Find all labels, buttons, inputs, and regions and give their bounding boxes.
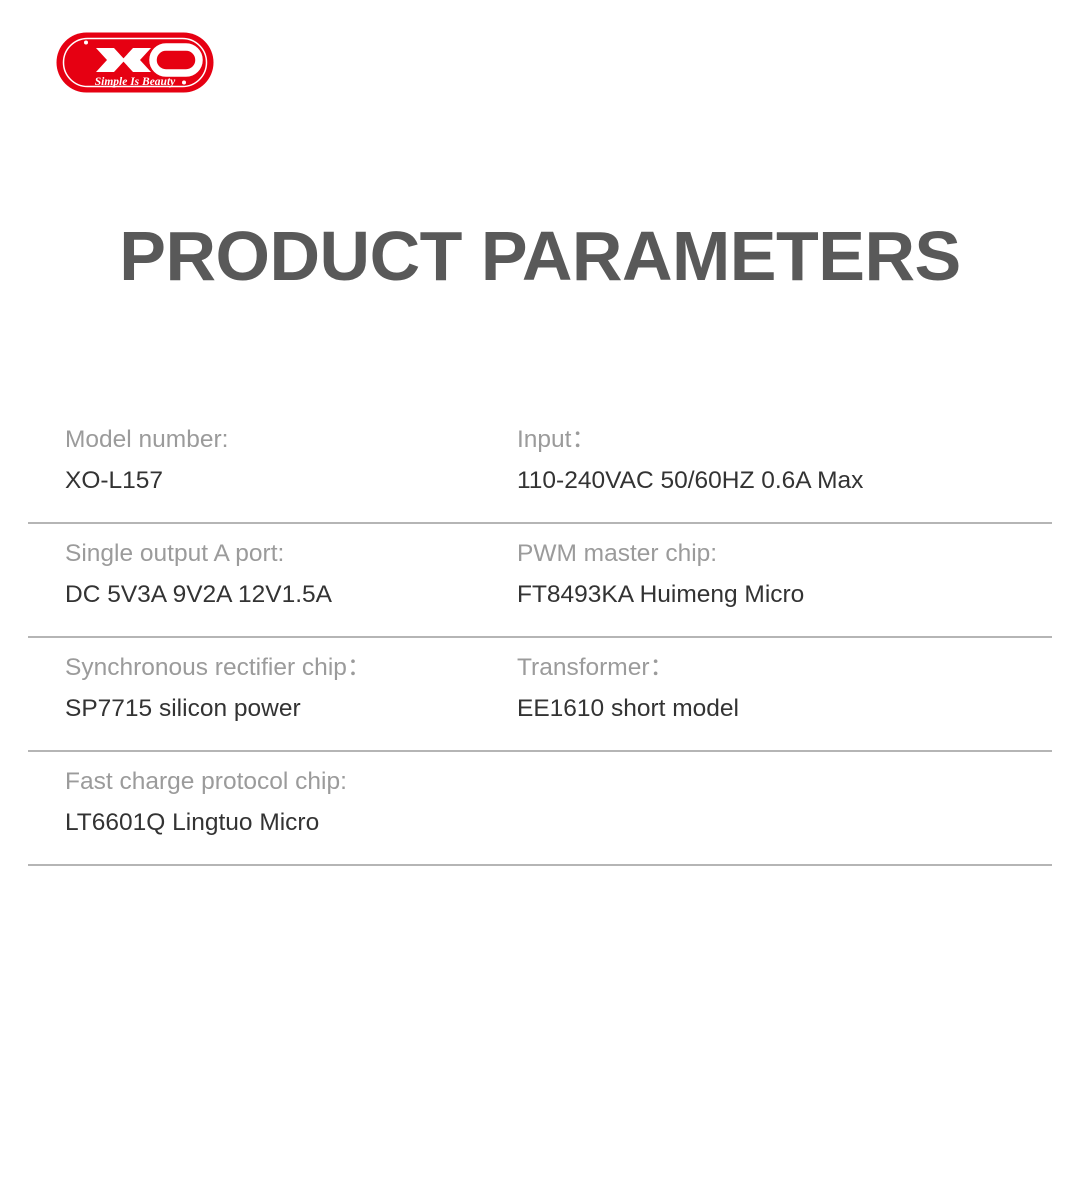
spec-label: Fast charge protocol chip: xyxy=(65,760,508,804)
table-row: Fast charge protocol chip: LT6601Q Lingt… xyxy=(28,752,1052,866)
spec-label: Synchronous rectifier chip： xyxy=(65,646,508,690)
spec-cell-empty xyxy=(508,760,1052,842)
spec-value: FT8493KA Huimeng Micro xyxy=(517,576,1052,614)
spec-label: Single output A port: xyxy=(65,532,508,576)
spec-label: Input： xyxy=(517,418,1052,462)
spec-cell-model-number: Model number: XO-L157 xyxy=(28,418,508,500)
spec-label: PWM master chip: xyxy=(517,532,1052,576)
spec-cell-synchronous-rectifier-chip: Synchronous rectifier chip： SP7715 silic… xyxy=(28,646,508,728)
spec-cell-input: Input： 110-240VAC 50/60HZ 0.6A Max xyxy=(508,418,1052,500)
page-title: PRODUCT PARAMETERS xyxy=(0,214,1080,298)
spec-value: SP7715 silicon power xyxy=(65,690,508,728)
logo-tagline: Simple Is Beauty xyxy=(95,76,176,88)
table-row: Synchronous rectifier chip： SP7715 silic… xyxy=(28,638,1052,752)
spec-value: 110-240VAC 50/60HZ 0.6A Max xyxy=(517,462,1052,500)
spec-label: Transformer： xyxy=(517,646,1052,690)
spec-value: DC 5V3A 9V2A 12V1.5A xyxy=(65,576,508,614)
spec-cell-fast-charge-protocol-chip: Fast charge protocol chip: LT6601Q Lingt… xyxy=(28,760,508,842)
table-row: Model number: XO-L157 Input： 110-240VAC … xyxy=(28,410,1052,524)
spec-label: Model number: xyxy=(65,418,508,462)
spec-cell-pwm-master-chip: PWM master chip: FT8493KA Huimeng Micro xyxy=(508,532,1052,614)
table-row: Single output A port: DC 5V3A 9V2A 12V1.… xyxy=(28,524,1052,638)
spec-value: EE1610 short model xyxy=(517,690,1052,728)
spec-value: LT6601Q Lingtuo Micro xyxy=(65,804,508,842)
spec-cell-transformer: Transformer： EE1610 short model xyxy=(508,646,1052,728)
xo-logo: Simple Is Beauty xyxy=(55,31,215,94)
spec-cell-single-output-a-port: Single output A port: DC 5V3A 9V2A 12V1.… xyxy=(28,532,508,614)
spec-value: XO-L157 xyxy=(65,462,508,500)
product-parameters-table: Model number: XO-L157 Input： 110-240VAC … xyxy=(28,410,1052,866)
